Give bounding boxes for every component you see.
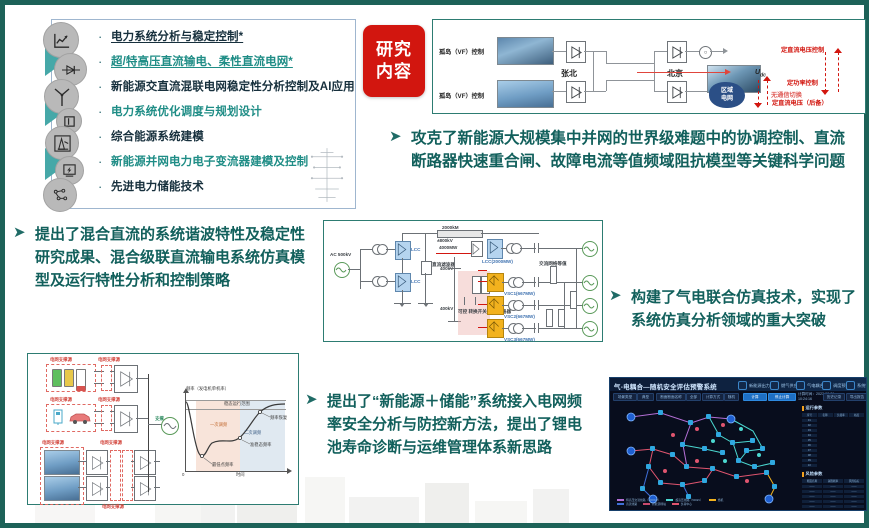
achievement-text-1-body: 攻克了新能源大规模集中并网的世界级难题中的协调控制、直流断路器快速重合闸、故障电… bbox=[411, 127, 859, 173]
converter-bj-bottom bbox=[667, 81, 687, 103]
table-row[interactable]: 03 bbox=[802, 428, 864, 432]
calculate-button[interactable]: 计算 bbox=[743, 393, 767, 401]
bullet-marker: · bbox=[98, 151, 111, 173]
nav-item-coupling[interactable]: 气电耦合 bbox=[796, 381, 824, 390]
lcc-inverter bbox=[487, 239, 503, 259]
table-row[interactable]: 09 bbox=[802, 458, 864, 462]
filter-value-scenario[interactable]: 典型 bbox=[637, 393, 654, 401]
zhangbei-label: 张北 bbox=[561, 68, 577, 79]
legend-item: 新能源场站 bbox=[643, 502, 666, 506]
ac-impedance-2 bbox=[546, 309, 553, 327]
achievement-text-1: ➤ 攻克了新能源大规模集中并网的世界级难题中的协调控制、直流断路器快速重合闸、故… bbox=[389, 127, 859, 173]
support-label-4: 电网支撑源 bbox=[98, 397, 120, 403]
dc-voltage-label-2: 400kV bbox=[440, 306, 453, 311]
vsc2-label: VSC2(667MW) bbox=[504, 314, 535, 319]
filter-label-section: 断面断面名称 bbox=[656, 393, 686, 401]
table-row[interactable]: —————— bbox=[802, 494, 864, 498]
transmission-tower-thumbnail bbox=[305, 146, 349, 204]
table-row[interactable]: —————— bbox=[802, 509, 864, 511]
bullet-marker: · bbox=[98, 76, 111, 98]
topic-label-6: 新能源并网电力电子变流器建模及控制 bbox=[111, 151, 308, 173]
meter-icon: ○ bbox=[699, 46, 712, 59]
island-control-bottom-label: 孤岛（VF）控制 bbox=[439, 91, 484, 100]
line-voltage-label: ±800kV bbox=[437, 238, 453, 243]
converter-block-3 bbox=[86, 450, 108, 475]
topic-label-3: 新能源交直流混联电网稳定性分析控制及AI应用 bbox=[111, 76, 355, 98]
support-label-7: 电网支撑源 bbox=[102, 504, 124, 510]
grid-support-frequency-diagram: 电网支撑源 电网支撑源 电网支撑源 电网支撑源 bbox=[27, 353, 299, 505]
slide-canvas: · 电力系统分析与稳定控制* · 超/特高压直流输电、柔性直流电网* · 新能源… bbox=[0, 0, 869, 528]
converter-zb-bottom bbox=[566, 81, 586, 103]
lcc-inverter-label: LCC(2000MW) bbox=[482, 259, 513, 264]
table-row[interactable]: 10 bbox=[802, 463, 864, 467]
dc-voltage-backup-label: 定直流电压（后备） bbox=[772, 98, 828, 107]
topic-label-2: 超/特高压直流输电、柔性直流电网* bbox=[111, 51, 293, 73]
converter-block-4 bbox=[86, 476, 108, 501]
map-legend: 特高压交流线路（1000kV） 超高压线路（500kV） 燃机 直流线路 新能源… bbox=[617, 498, 801, 507]
nav-item-gas[interactable]: 燃气供应 bbox=[770, 381, 798, 390]
table-header-row: 断面名称 越限概率 风险指标 bbox=[802, 479, 864, 483]
table-row[interactable]: 06 bbox=[802, 443, 864, 447]
converter-block-5 bbox=[134, 450, 156, 475]
regional-grid-blob: 区域电网 bbox=[709, 82, 745, 108]
support-label-2: 电网支撑源 bbox=[98, 357, 120, 363]
list-item[interactable]: · 新能源交直流混联电网稳定性分析控制及AI应用 bbox=[98, 76, 351, 100]
filter-value-section[interactable]: 全部 bbox=[686, 393, 701, 401]
primary-regulation-label: 一次调频 bbox=[210, 422, 227, 428]
inverter-valve bbox=[471, 241, 483, 257]
bullet-marker: · bbox=[98, 26, 111, 48]
electric-car-icon bbox=[68, 411, 92, 425]
power-control-label: 定功率控制 bbox=[787, 78, 818, 87]
gas-power-assessment-dashboard[interactable]: 气-电耦合—随机安全评估预警系统 新能源出力预测 燃气供应 气电耦合 调度预警 … bbox=[609, 377, 867, 511]
hybrid-dc-circuit-diagram: AC 500kV LCC LCC 直流滤波器 bbox=[323, 220, 603, 342]
achievement-text-3-body: 构建了气电联合仿真技术，实现了系统仿真分析领域的重大突破 bbox=[631, 286, 859, 332]
ac-source-label: AC 500kV bbox=[330, 252, 351, 257]
stop-calculation-button[interactable]: 停止计算 bbox=[768, 393, 796, 401]
research-topics-card: · 电力系统分析与稳定控制* · 超/特高压直流输电、柔性直流电网* · 新能源… bbox=[51, 19, 356, 209]
wind-photo-1 bbox=[44, 450, 80, 475]
dc-voltage-control-label: 定直流电压控制 bbox=[781, 45, 824, 54]
forecast-icon bbox=[738, 381, 747, 390]
ac-generator-2 bbox=[582, 275, 598, 291]
research-content-badge: 研究 内容 bbox=[363, 25, 425, 97]
dc-filter bbox=[421, 261, 432, 275]
wind-photo-2 bbox=[44, 476, 80, 501]
support-label-5: 电网支撑源 bbox=[42, 440, 64, 446]
frequency-recovery-label: 频率恢复 bbox=[270, 415, 287, 421]
arrow-bullet-icon: ➤ bbox=[13, 223, 35, 243]
coupling-icon bbox=[796, 381, 805, 390]
table-row[interactable]: —————— bbox=[802, 504, 864, 508]
converter-dash-4 bbox=[122, 450, 133, 501]
solar-farm-photo bbox=[497, 37, 554, 65]
wind-farm-photo bbox=[497, 80, 554, 108]
ac-impedance-1 bbox=[550, 266, 557, 284]
bullet-marker: · bbox=[98, 51, 111, 73]
table-row[interactable]: 04 bbox=[802, 433, 864, 437]
alert-icon bbox=[822, 381, 831, 390]
converter-dash-2 bbox=[101, 405, 112, 431]
table-row[interactable]: —————— bbox=[802, 489, 864, 493]
support-label-3: 电网支撑源 bbox=[50, 397, 72, 403]
panel-title-risk: 风险参数 bbox=[802, 471, 864, 477]
achievement-text-4: ➤ 提出了“新能源＋储能”系统接入电网频率安全分析与防控新方法，提出了锂电池寿命… bbox=[305, 390, 595, 459]
battery-red bbox=[76, 369, 86, 391]
topic-label-1: 电力系统分析与稳定控制* bbox=[111, 26, 243, 48]
dashboard-toolbar: 场景类型 典型 断面断面名称 全部 计算方式 随机 计算 停止计算 计算时间：2… bbox=[613, 393, 863, 401]
legend-item: 负荷中心 bbox=[672, 502, 692, 506]
frequency-response-chart: 频率（发电机单机率） 0 时间 稳态运行范围 一次调频 bbox=[180, 386, 292, 484]
bullet-marker: · bbox=[98, 101, 111, 123]
badge-line-1: 研究 bbox=[376, 39, 412, 61]
table-row[interactable]: 01 bbox=[802, 418, 864, 422]
table-row[interactable]: 02 bbox=[802, 423, 864, 427]
table-row[interactable]: 07 bbox=[802, 448, 864, 452]
bypass-switch-1 bbox=[472, 276, 481, 294]
topic-label-4: 电力系统优化调度与规划设计 bbox=[111, 101, 262, 123]
converter-dash-3 bbox=[110, 450, 121, 501]
list-item[interactable]: · 超/特高压直流输电、柔性直流电网* bbox=[98, 51, 351, 75]
converter-zb-top bbox=[566, 41, 586, 63]
bullet-marker: · bbox=[98, 176, 111, 198]
line-power-label: 4000MW bbox=[439, 245, 457, 250]
transmission-line bbox=[437, 230, 483, 238]
red-flow-arrow bbox=[725, 69, 731, 75]
support-label-1: 电网支撑源 bbox=[50, 357, 72, 363]
arrow-bullet-icon: ➤ bbox=[389, 127, 411, 147]
grid-generator-symbol bbox=[161, 417, 179, 435]
achievement-text-4-body: 提出了“新能源＋储能”系统接入电网频率安全分析与防控新方法，提出了锂电池寿命诊断… bbox=[327, 390, 595, 459]
battery-green bbox=[52, 369, 62, 387]
filter-label-method: 计算方式 bbox=[702, 393, 724, 401]
settings-icon bbox=[846, 381, 855, 390]
beijing-label: 北京 bbox=[667, 68, 683, 79]
ac-source-symbol bbox=[334, 262, 350, 278]
table-row[interactable]: 05 bbox=[802, 438, 864, 442]
topic-icon-strip bbox=[43, 20, 95, 210]
lcc-rectifier-1 bbox=[395, 241, 411, 260]
converter-block-6 bbox=[134, 476, 156, 501]
lowest-frequency-label: 最低点频率 bbox=[212, 462, 233, 468]
topic-label-5: 综合能源系统建模 bbox=[111, 126, 204, 148]
lcc-rectifier-2 bbox=[395, 273, 411, 292]
filter-label-scenario: 场景类型 bbox=[613, 393, 637, 401]
hvdc-control-diagram: 孤岛（VF）控制 孤岛（VF）控制 张北 北京 bbox=[432, 19, 866, 114]
vsc3-label: VSC3(667MW) bbox=[504, 337, 535, 342]
achievement-text-2-body: 提出了混合直流的系统谐波特性及稳定性研究成果、混合级联直流输电系统仿真模型及运行… bbox=[35, 223, 313, 292]
export-report-button[interactable]: 导出报告 bbox=[846, 393, 867, 401]
ac-generator-1 bbox=[582, 241, 598, 257]
filter-value-method[interactable]: 随机 bbox=[724, 393, 739, 401]
achievement-text-2: ➤ 提出了混合直流的系统谐波特性及稳定性研究成果、混合级联直流输电系统仿真模型及… bbox=[13, 223, 313, 292]
legend-item: 直流线路 bbox=[617, 502, 637, 506]
support-label-6: 电网支撑源 bbox=[100, 440, 122, 446]
panel-title-operating: 运行参数 bbox=[802, 405, 864, 411]
converter-block-1 bbox=[114, 365, 138, 393]
badge-line-2: 内容 bbox=[376, 61, 412, 83]
converter-dash-1 bbox=[101, 365, 112, 391]
lcc-label-1: LCC bbox=[411, 247, 420, 252]
dashboard-title: 气-电耦合—随机安全评估预警系统 bbox=[614, 381, 717, 391]
history-button[interactable]: 历史记录 bbox=[823, 393, 845, 401]
table-row[interactable]: —————— bbox=[802, 484, 864, 488]
list-item[interactable]: · 电力系统分析与稳定控制* bbox=[98, 26, 351, 50]
power-grid-network-map[interactable]: 特高压交流线路（1000kV） 超高压线路（500kV） 燃机 直流线路 新能源… bbox=[613, 405, 801, 508]
bullet-marker: · bbox=[98, 126, 111, 148]
converter-bj-top bbox=[667, 41, 687, 63]
oil-derrick-icon bbox=[45, 126, 79, 160]
list-item[interactable]: · 电力系统优化调度与规划设计 bbox=[98, 101, 351, 125]
table-row[interactable]: 08 bbox=[802, 453, 864, 457]
lcc-label-2: LCC bbox=[411, 279, 420, 284]
battery-yellow bbox=[64, 369, 74, 387]
flow-arrow-top bbox=[723, 48, 728, 54]
nav-item-settings[interactable]: 系统管理 bbox=[846, 381, 867, 390]
legend-item: 燃机 bbox=[709, 498, 724, 502]
arrow-bullet-icon: ➤ bbox=[305, 390, 327, 410]
gas-icon bbox=[770, 381, 779, 390]
quasi-steady-frequency-label: 准稳态频率 bbox=[250, 442, 271, 448]
network-graph bbox=[613, 405, 801, 508]
circuit-board-icon bbox=[43, 178, 77, 212]
arrow-bullet-icon: ➤ bbox=[609, 286, 631, 306]
table-header-row: 序号 名称 负载率 裕度 bbox=[802, 413, 864, 417]
island-control-top-label: 孤岛（VF）控制 bbox=[439, 47, 484, 56]
dashboard-side-panels: 运行参数 序号 名称 负载率 裕度 01 02 03 04 05 06 07 0… bbox=[802, 405, 864, 511]
achievement-text-3: ➤ 构建了气电联合仿真技术，实现了系统仿真分析领域的重大突破 bbox=[609, 286, 859, 332]
ac-generator-3 bbox=[582, 298, 598, 314]
table-row[interactable]: —————— bbox=[802, 499, 864, 503]
converter-block-2 bbox=[114, 405, 138, 433]
frequency-curve bbox=[180, 386, 292, 484]
vsc1-label: VSC1(667MW) bbox=[504, 291, 535, 296]
charging-pile-icon bbox=[50, 408, 66, 426]
ac-generator-4 bbox=[582, 321, 598, 337]
topic-label-7: 先进电力储能技术 bbox=[111, 176, 204, 198]
